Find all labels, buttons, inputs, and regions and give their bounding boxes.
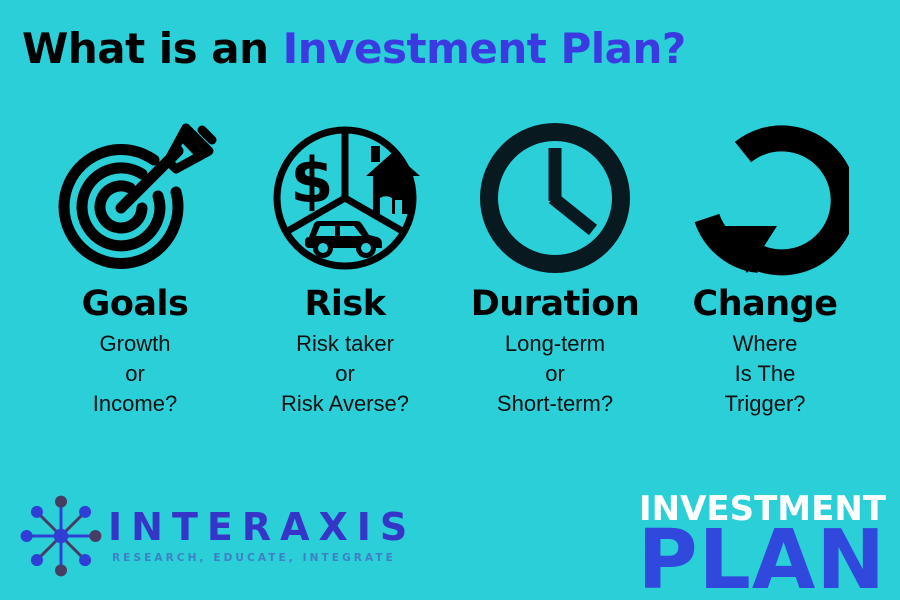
pillar-change-line-2: Is The xyxy=(724,359,805,389)
pillar-goals-title: Goals xyxy=(82,286,189,323)
pillar-risk-line-3: Risk Averse? xyxy=(281,389,409,419)
interaxis-starburst-icon xyxy=(18,492,104,580)
svg-text:$: $ xyxy=(290,144,333,217)
wordmark-bottom-line: PLAN xyxy=(638,523,886,598)
pillar-risk-title: Risk xyxy=(304,286,385,323)
pillar-goals-line-3: Income? xyxy=(93,389,177,419)
pillar-goals: Goals Growth or Income? xyxy=(30,115,240,420)
pillar-change-icon-wrap xyxy=(681,115,849,280)
pillar-duration: Duration Long-term or Short-term? xyxy=(450,115,660,420)
pillar-goals-line-1: Growth xyxy=(93,329,177,359)
page-title: What is an Investment Plan? xyxy=(22,26,882,72)
clock-icon xyxy=(471,118,639,278)
pillar-duration-lines: Long-term or Short-term? xyxy=(497,329,613,420)
pillar-duration-line-3: Short-term? xyxy=(497,389,613,419)
brand-text: INTERAXIS RESEARCH, EDUCATE, INTEGRATE xyxy=(108,508,416,564)
corner-wordmark: INVESTMENT PLAN xyxy=(638,492,886,598)
pillar-risk-line-1: Risk taker xyxy=(281,329,409,359)
page-title-highlight: Investment Plan? xyxy=(283,24,686,73)
pillar-duration-icon-wrap xyxy=(471,115,639,280)
pillar-change-line-3: Trigger? xyxy=(724,389,805,419)
pillar-risk-lines: Risk taker or Risk Averse? xyxy=(281,329,409,420)
pillar-goals-icon-wrap xyxy=(50,115,220,280)
pillar-duration-line-1: Long-term xyxy=(497,329,613,359)
pillar-goals-lines: Growth or Income? xyxy=(93,329,177,420)
dollar-sign-glyph: $ xyxy=(290,144,333,217)
pillar-risk: $ xyxy=(240,115,450,420)
target-dart-icon xyxy=(50,118,220,278)
brand-logo: INTERAXIS RESEARCH, EDUCATE, INTEGRATE xyxy=(18,492,416,580)
brand-name: INTERAXIS xyxy=(108,508,416,546)
pillar-change-title: Change xyxy=(693,286,838,323)
house-glyph xyxy=(366,146,420,214)
car-glyph xyxy=(305,220,382,257)
pillar-change-line-1: Where xyxy=(724,329,805,359)
pillars-row: Goals Growth or Income? $ xyxy=(30,115,870,420)
circular-arrow-icon xyxy=(681,118,849,278)
pillar-change-lines: Where Is The Trigger? xyxy=(724,329,805,420)
pillar-duration-line-2: or xyxy=(497,359,613,389)
pillar-risk-icon-wrap: $ xyxy=(265,115,425,280)
page-title-lead: What is an xyxy=(22,24,283,73)
pillar-duration-title: Duration xyxy=(471,286,640,323)
brand-tagline: RESEARCH, EDUCATE, INTEGRATE xyxy=(112,553,396,564)
infographic-canvas: What is an Investment Plan? xyxy=(0,0,900,600)
pillar-goals-line-2: or xyxy=(93,359,177,389)
pillar-risk-line-2: or xyxy=(281,359,409,389)
pie-chart-assets-icon: $ xyxy=(265,118,425,278)
pillar-change: Change Where Is The Trigger? xyxy=(660,115,870,420)
